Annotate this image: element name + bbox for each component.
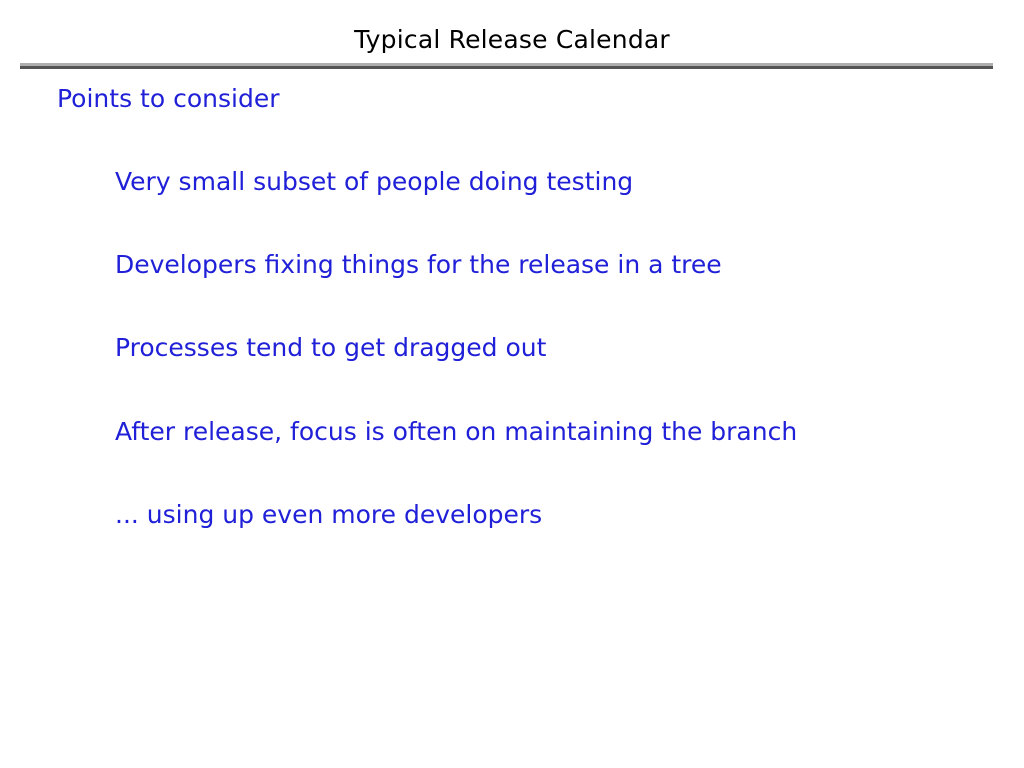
bullet-item-2: Developers fixing things for the release…	[115, 250, 722, 279]
slide-body: Points to consider Very small subset of …	[0, 0, 1024, 768]
bullet-item-5: ... using up even more developers	[115, 500, 542, 529]
bullet-item-1: Very small subset of people doing testin…	[115, 167, 633, 196]
body-heading: Points to consider	[57, 84, 279, 113]
bullet-item-4: After release, focus is often on maintai…	[115, 417, 797, 446]
bullet-item-3: Processes tend to get dragged out	[115, 333, 546, 362]
presentation-slide: Typical Release Calendar Points to consi…	[0, 0, 1024, 768]
